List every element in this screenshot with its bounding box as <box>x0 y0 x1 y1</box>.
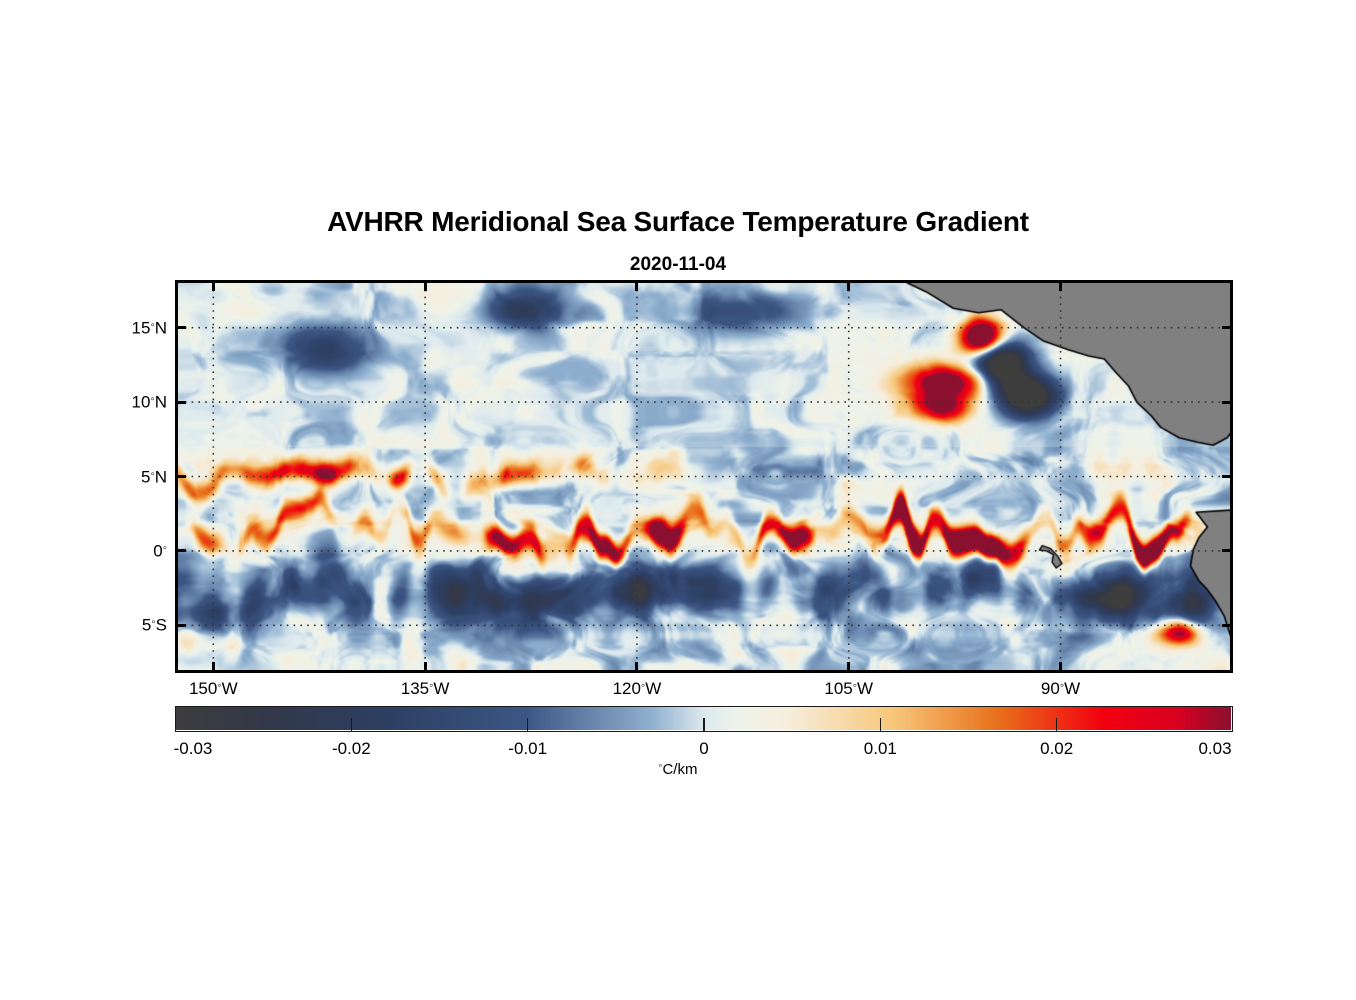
x-tick-label: 150◦W <box>189 678 238 699</box>
x-tick-mark <box>635 662 638 673</box>
colorbar-tick-label: -0.03 <box>174 739 213 759</box>
colorbar-tick-mark <box>351 718 353 732</box>
colorbar-tick-mark <box>527 718 529 732</box>
y-tick-mark <box>175 401 186 404</box>
figure-title: AVHRR Meridional Sea Surface Temperature… <box>0 206 1356 238</box>
x-tick-label: 135◦W <box>401 678 450 699</box>
x-tick-mark <box>1059 280 1062 291</box>
y-tick-label: 15◦N <box>132 317 167 338</box>
colorbar-tick-label: -0.01 <box>508 739 547 759</box>
y-tick-label: 5◦S <box>142 615 167 636</box>
figure-subtitle: 2020-11-04 <box>0 254 1356 276</box>
colorbar-tick-label: -0.02 <box>332 739 371 759</box>
y-tick-mark <box>1222 624 1233 627</box>
y-tick-mark <box>175 624 186 627</box>
y-tick-mark <box>1222 401 1233 404</box>
colorbar-unit-label: ◦C/km <box>0 760 1356 778</box>
y-tick-mark <box>1222 326 1233 329</box>
colorbar-tick-mark <box>703 718 705 732</box>
y-tick-mark <box>1222 549 1233 552</box>
x-tick-label: 105◦W <box>824 678 873 699</box>
x-tick-mark <box>212 662 215 673</box>
x-tick-mark <box>212 280 215 291</box>
y-tick-label: 5◦N <box>141 466 167 487</box>
colorbar-tick-label: 0.03 <box>1198 739 1231 759</box>
x-tick-label: 120◦W <box>613 678 662 699</box>
x-tick-mark <box>847 662 850 673</box>
sst-gradient-heatmap <box>178 283 1230 670</box>
colorbar-tick-label: 0.02 <box>1040 739 1073 759</box>
y-tick-label: 10◦N <box>132 392 167 413</box>
colorbar-tick-mark <box>880 718 882 732</box>
colorbar-tick-label: 0.01 <box>864 739 897 759</box>
map-axes <box>175 280 1233 673</box>
y-tick-mark <box>175 475 186 478</box>
x-tick-mark <box>1059 662 1062 673</box>
x-tick-label: 90◦W <box>1041 678 1080 699</box>
y-tick-mark <box>1222 475 1233 478</box>
x-tick-mark <box>635 280 638 291</box>
figure-canvas: AVHRR Meridional Sea Surface Temperature… <box>0 0 1356 1000</box>
y-tick-mark <box>175 326 186 329</box>
x-tick-mark <box>847 280 850 291</box>
colorbar-tick-label: 0 <box>699 739 708 759</box>
y-tick-label: 0◦ <box>153 540 167 561</box>
x-tick-mark <box>424 280 427 291</box>
colorbar-tick-mark <box>1056 718 1058 732</box>
y-tick-mark <box>175 549 186 552</box>
x-tick-mark <box>424 662 427 673</box>
